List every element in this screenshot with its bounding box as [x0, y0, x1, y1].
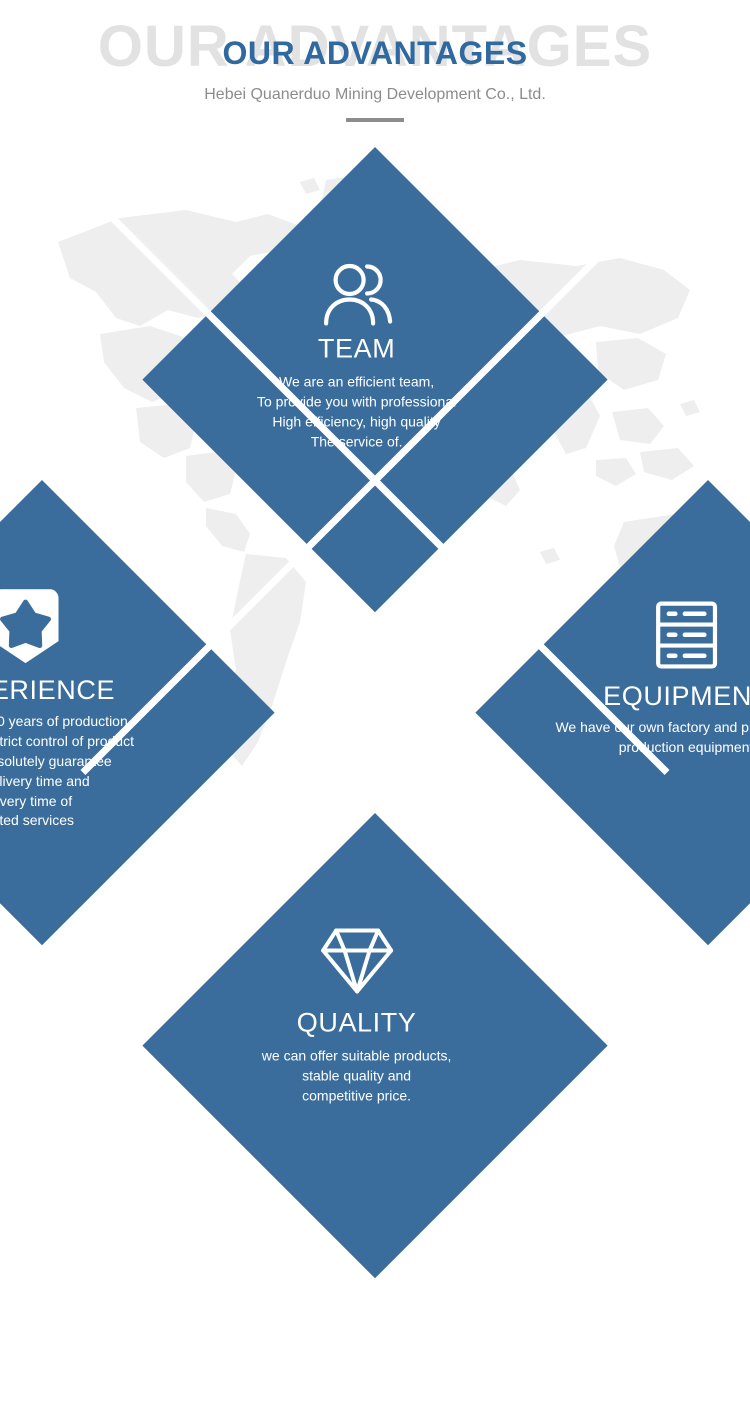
- advantage-card-description: We are an efficient team, To provide you…: [257, 373, 456, 453]
- advantage-card-title: TEAM: [318, 336, 395, 363]
- advantage-card-description: More than 20 years of production experie…: [0, 712, 155, 831]
- server-rack-icon: [655, 601, 717, 669]
- advantage-card-title: EQUIPMENT: [603, 683, 750, 710]
- page-header: OUR ADVANTAGES OUR ADVANTAGES Hebei Quan…: [0, 0, 750, 140]
- two-people-icon: [319, 260, 395, 326]
- page-title: OUR ADVANTAGES: [0, 37, 750, 69]
- company-subtitle: Hebei Quanerduo Mining Development Co., …: [0, 84, 750, 106]
- advantage-card-description: we can offer suitable products, stable q…: [262, 1047, 452, 1107]
- shield-star-icon: [0, 589, 58, 663]
- advantage-card-title: EXPERIENCE: [0, 677, 115, 704]
- diamond-gem-icon: [320, 926, 394, 996]
- advantages-diamond-cluster: TEAM We are an efficient team, To provid…: [42, 147, 708, 813]
- header-divider: [346, 118, 404, 122]
- advantage-card-title: QUALITY: [297, 1010, 417, 1037]
- advantage-card-description: We have our own factory and professional…: [521, 718, 750, 758]
